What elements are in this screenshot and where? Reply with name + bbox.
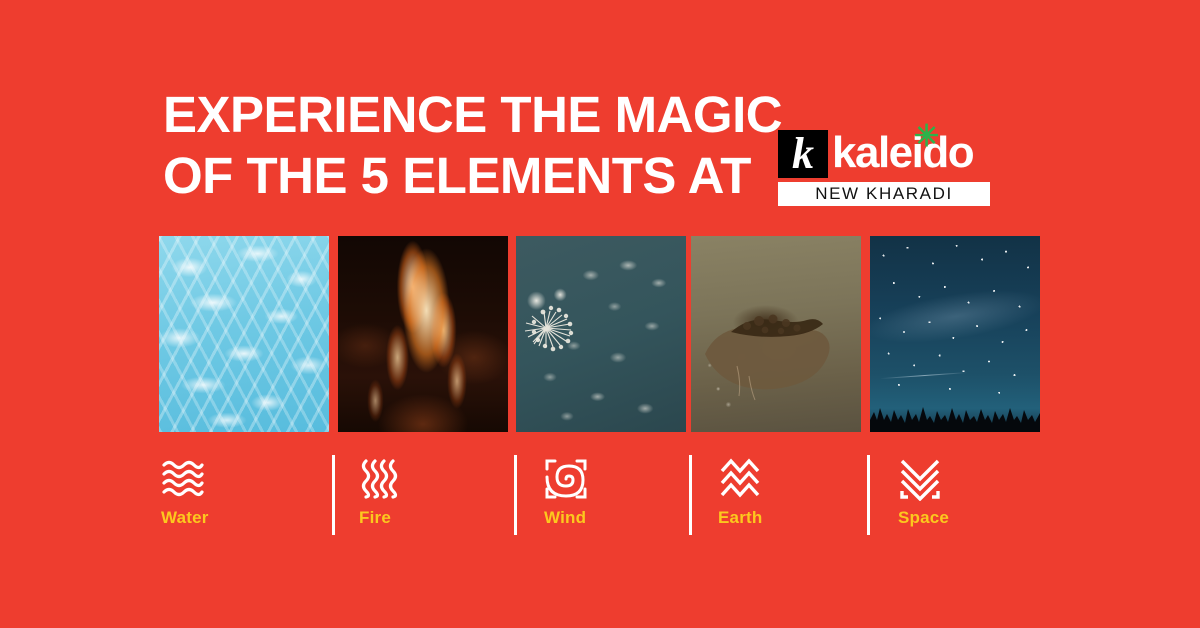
- wind-spiral-icon: [544, 457, 588, 501]
- headline-line-2: OF THE 5 ELEMENTS AT: [163, 145, 783, 206]
- poster-canvas: EXPERIENCE THE MAGIC OF THE 5 ELEMENTS A…: [0, 0, 1200, 628]
- element-earth-label: Earth: [718, 508, 762, 528]
- element-photo-strip: [159, 236, 1041, 432]
- headline-line-1: EXPERIENCE THE MAGIC: [163, 84, 783, 145]
- element-wind[interactable]: Wind: [542, 455, 702, 540]
- divider-1: [332, 455, 335, 535]
- earth-chevrons-icon: [718, 457, 762, 501]
- fire-flames-icon: [359, 457, 403, 501]
- element-space-label: Space: [898, 508, 949, 528]
- water-photo: [159, 236, 329, 432]
- panel-space: [870, 236, 1040, 432]
- panel-water: [159, 236, 329, 432]
- element-wind-label: Wind: [544, 508, 586, 528]
- panel-fire: [338, 236, 508, 432]
- kaleido-logo[interactable]: k kaleido ✳ NEW KHARADI: [778, 130, 990, 204]
- logo-k-letter: k: [778, 130, 828, 178]
- element-fire-label: Fire: [359, 508, 391, 528]
- space-diagonals-icon: [898, 457, 942, 501]
- fire-photo: [338, 236, 508, 432]
- page-title: EXPERIENCE THE MAGIC OF THE 5 ELEMENTS A…: [163, 84, 783, 206]
- element-earth[interactable]: Earth: [716, 455, 876, 540]
- logo-tagline-bar: NEW KHARADI: [778, 182, 990, 206]
- wind-photo: [516, 236, 686, 432]
- logo-tagline-text: NEW KHARADI: [815, 184, 953, 204]
- logo-wordmark-text: kaleido: [832, 129, 973, 177]
- element-space[interactable]: Space: [896, 455, 1056, 540]
- logo-wordmark-row: k kaleido ✳: [778, 130, 990, 178]
- element-water-label: Water: [161, 508, 209, 528]
- element-water[interactable]: Water: [159, 455, 319, 540]
- asterisk-icon: ✳: [914, 122, 939, 152]
- logo-k-mark: k: [778, 130, 828, 178]
- earth-photo: [691, 236, 861, 432]
- panel-wind: [516, 236, 686, 432]
- panel-earth: [691, 236, 861, 432]
- element-legend-strip: Water Fire: [159, 455, 1049, 540]
- water-waves-icon: [161, 457, 205, 501]
- space-photo: [870, 236, 1040, 432]
- element-fire[interactable]: Fire: [357, 455, 517, 540]
- pine-forest-silhouette: [870, 398, 1040, 432]
